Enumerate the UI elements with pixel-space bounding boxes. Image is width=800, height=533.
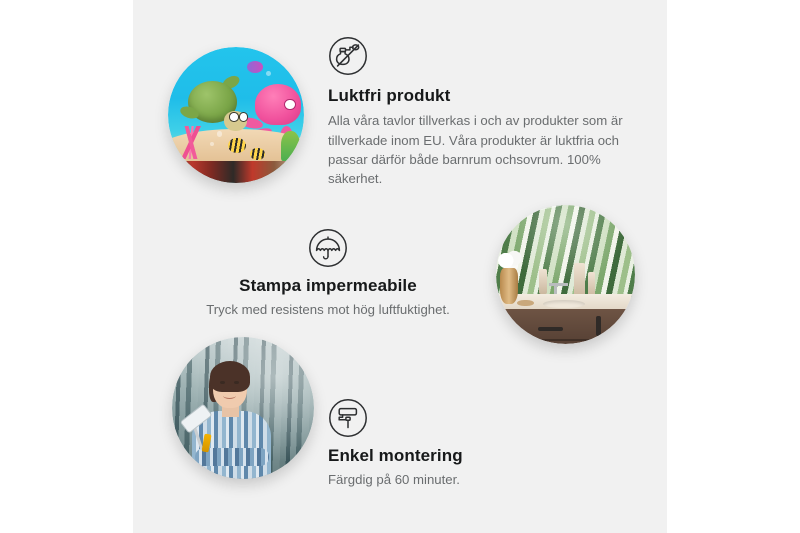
feature-waterproof-title: Stampa impermeabile bbox=[178, 275, 478, 296]
aquarium-fish-yellow bbox=[250, 148, 265, 160]
aquarium-seaweed bbox=[281, 131, 300, 161]
aquarium-fish-purple bbox=[247, 61, 263, 73]
feature-odourless-description: Alla våra tavlor tillverkas i och av pro… bbox=[328, 111, 628, 188]
product-feature-banner: Luktfri produkt Alla våra tavlor tillver… bbox=[0, 0, 800, 533]
photo-bathroom bbox=[496, 205, 635, 344]
bathroom-sink bbox=[543, 300, 585, 308]
feature-waterproof: Stampa impermeabile Tryck med resistens … bbox=[178, 228, 478, 320]
photo-painter-art bbox=[172, 337, 314, 479]
aquarium-bubble bbox=[266, 71, 271, 76]
bathroom-cabinet-seam bbox=[502, 339, 630, 341]
bathroom-faucet-arm bbox=[549, 283, 568, 286]
feature-mounting-description: Färgdig på 60 minuter. bbox=[328, 470, 628, 489]
feature-odourless-title: Luktfri produkt bbox=[328, 85, 628, 106]
photo-painter bbox=[172, 337, 314, 479]
bathroom-bottle bbox=[539, 269, 547, 294]
aquarium-octopus-eye bbox=[284, 99, 296, 111]
bathroom-door-handle bbox=[596, 316, 601, 335]
aquarium-coral bbox=[173, 126, 208, 159]
painter-eye bbox=[220, 381, 225, 384]
paint-roller-icon bbox=[328, 398, 628, 438]
aquarium-foreground-strip bbox=[168, 161, 304, 183]
feature-waterproof-description: Tryck med resistens mot hög luftfuktighe… bbox=[178, 300, 478, 319]
photo-aquarium-art bbox=[168, 47, 304, 183]
aquarium-turtle-eye bbox=[239, 112, 248, 121]
feature-mounting-title: Enkel montering bbox=[328, 445, 628, 466]
bathroom-soap-dish bbox=[517, 300, 534, 307]
painter-hair bbox=[210, 361, 250, 392]
photo-bathroom-art bbox=[496, 205, 635, 344]
aquarium-turtle-eye bbox=[229, 112, 238, 121]
bathroom-bottle bbox=[574, 263, 585, 296]
bathroom-cabinet bbox=[496, 309, 635, 344]
umbrella-icon bbox=[178, 228, 478, 268]
feature-odourless: Luktfri produkt Alla våra tavlor tillver… bbox=[328, 36, 628, 188]
photo-aquarium bbox=[168, 47, 304, 183]
aquarium-fish-yellow bbox=[228, 138, 246, 153]
feature-mounting: Enkel montering Färgdig på 60 minuter. bbox=[328, 398, 628, 490]
bathroom-drawer-handle bbox=[538, 327, 563, 331]
bathroom-vase bbox=[500, 268, 518, 304]
no-fragrance-icon bbox=[328, 36, 628, 76]
painter-smile bbox=[223, 392, 236, 399]
